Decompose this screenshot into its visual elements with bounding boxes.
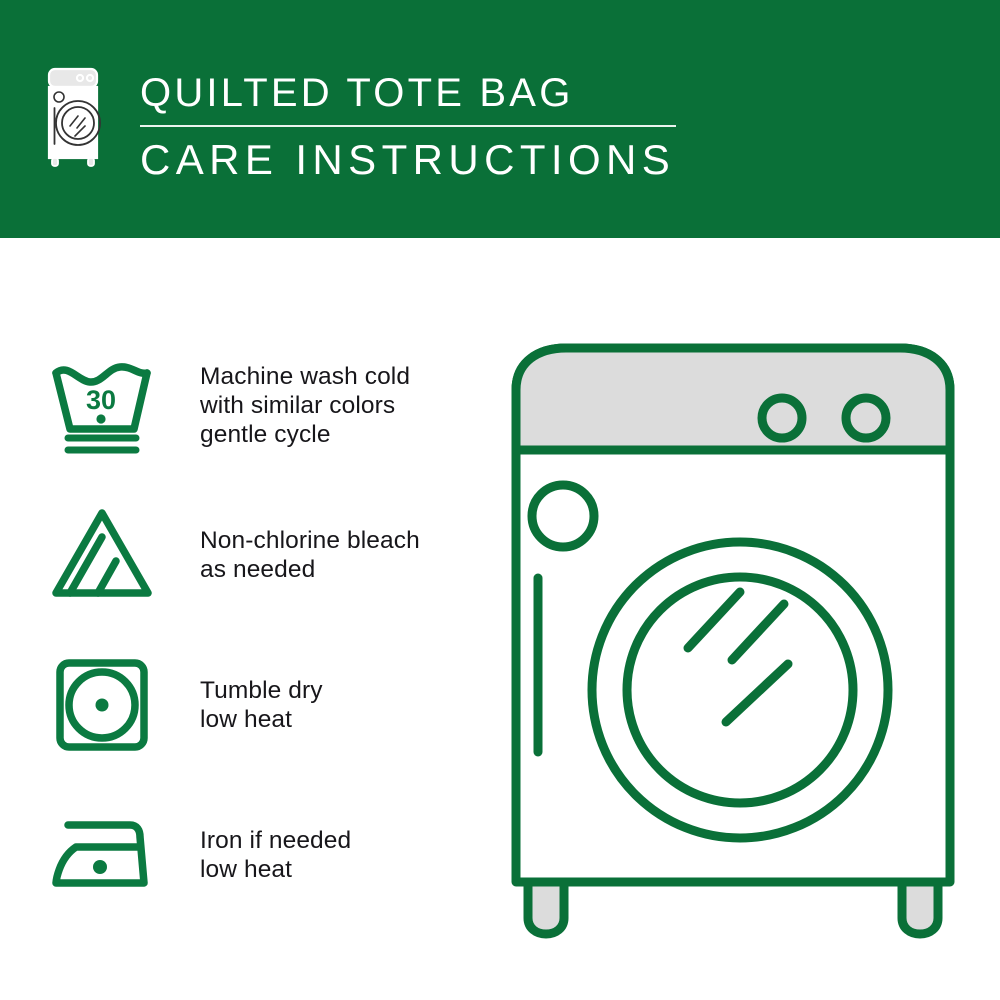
product-title: QUILTED TOTE BAG (140, 70, 676, 116)
care-instructions-infographic: QUILTED TOTE BAG CARE INSTRUCTIONS 30 (0, 0, 1000, 1000)
care-text-line: low heat (200, 705, 323, 734)
care-row-wash: 30 Machine wash cold with similar colors… (44, 330, 464, 480)
care-row-iron: Iron if needed low heat (44, 780, 464, 930)
care-text-bleach: Non-chlorine bleach as needed (200, 526, 420, 584)
care-text-wash: Machine wash cold with similar colors ge… (200, 362, 410, 449)
wash-temperature-label: 30 (86, 385, 116, 415)
washing-machine-illustration (488, 330, 978, 940)
machine-leg-left (528, 882, 564, 934)
care-instruction-list: 30 Machine wash cold with similar colors… (44, 330, 464, 930)
machine-control-panel (516, 348, 950, 450)
iron-low-heat-icon (44, 800, 162, 910)
care-text-line: low heat (200, 855, 351, 884)
care-text-line: as needed (200, 555, 420, 584)
care-text-line: Non-chlorine bleach (200, 526, 420, 555)
care-row-tumble-dry: Tumble dry low heat (44, 630, 464, 780)
header-title-group: QUILTED TOTE BAG CARE INSTRUCTIONS (140, 66, 676, 183)
wash-tub-30-gentle-icon: 30 (44, 350, 162, 460)
bleach-triangle-non-chlorine-icon (44, 500, 162, 610)
header-band: QUILTED TOTE BAG CARE INSTRUCTIONS (0, 0, 1000, 238)
care-text-line: with similar colors (200, 391, 410, 420)
care-row-bleach: Non-chlorine bleach as needed (44, 480, 464, 630)
page-title: CARE INSTRUCTIONS (140, 137, 676, 183)
title-divider (140, 125, 676, 127)
machine-leg-right (902, 882, 938, 934)
care-text-iron: Iron if needed low heat (200, 826, 351, 884)
care-text-line: Tumble dry (200, 676, 323, 705)
header-content: QUILTED TOTE BAG CARE INSTRUCTIONS (44, 66, 676, 183)
tumble-dry-low-icon (44, 650, 162, 760)
care-text-line: Iron if needed (200, 826, 351, 855)
washing-machine-icon (44, 66, 106, 170)
care-text-line: gentle cycle (200, 420, 410, 449)
care-text-tumble-dry: Tumble dry low heat (200, 676, 323, 734)
care-text-line: Machine wash cold (200, 362, 410, 391)
